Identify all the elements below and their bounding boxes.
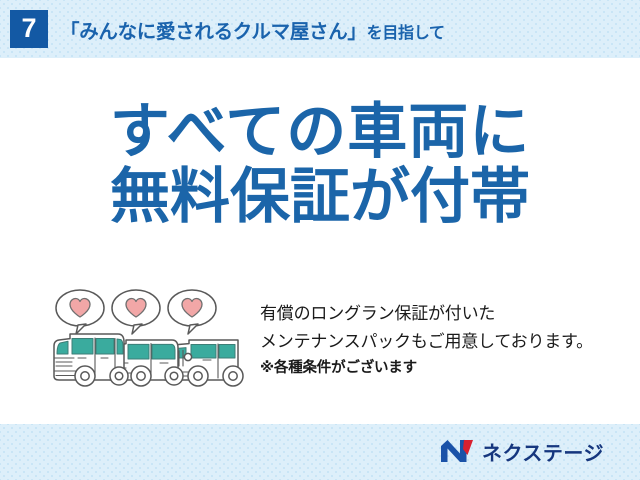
header-title-suffix-text: を目指して [367, 19, 445, 43]
heart-speech-bubble-1 [56, 290, 104, 334]
three-cars-with-heart-bubbles-illustration [48, 288, 248, 400]
headline-line-2: 無料保証が付帯 [0, 165, 640, 230]
header: 7 「みんなに愛されるクルマ屋さん」 を目指して [0, 0, 640, 58]
header-title-main-text: 「みんなに愛されるクルマ屋さん」 [60, 15, 367, 44]
headline: すべての車両に 無料保証が付帯 [0, 100, 640, 230]
heart-speech-bubble-2 [112, 290, 160, 334]
content-row: 有償のロングラン保証が付いた メンテナンスパックもご用意しております。 ※各種条… [0, 288, 640, 403]
step-number-badge: 7 [10, 10, 48, 48]
body-copy: 有償のロングラン保証が付いた メンテナンスパックもご用意しております。 ※各種条… [260, 288, 593, 381]
body-copy-note: ※各種条件がございます [260, 356, 593, 381]
car-minivan [54, 334, 128, 386]
brand-name-text: ネクステージ [482, 437, 604, 466]
nextage-n-logo-icon [440, 439, 474, 463]
body-copy-line-1: 有償のロングラン保証が付いた [260, 300, 593, 328]
promo-slide: 7 「みんなに愛されるクルマ屋さん」 を目指して すべての車両に 無料保証が付帯 [0, 0, 640, 480]
headline-line-1: すべての車両に [0, 100, 640, 165]
heart-speech-bubble-3 [168, 290, 216, 334]
body-copy-line-2: メンテナンスパックもご用意しております。 [260, 328, 593, 356]
brand-logo: ネクステージ [440, 438, 604, 464]
header-title: 「みんなに愛されるクルマ屋さん」 を目指して [60, 15, 445, 44]
